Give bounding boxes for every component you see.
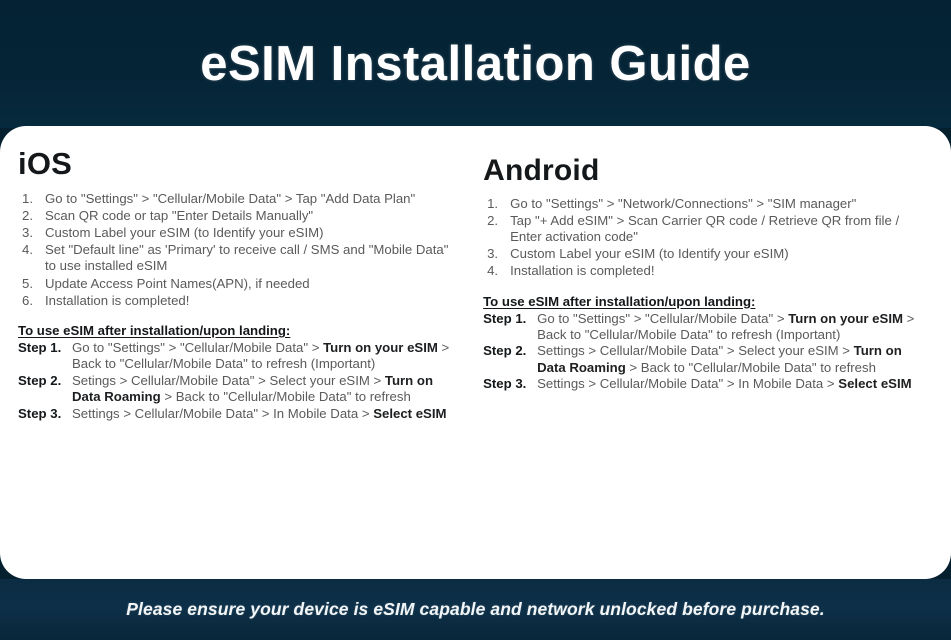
ios-usage-list: Step 1.Go to "Settings" > "Cellular/Mobi…: [18, 340, 453, 422]
list-item: 5.Update Access Point Names(APN), if nee…: [18, 276, 453, 292]
usage-step-text: Setings > Cellular/Mobile Data" > Select…: [72, 373, 433, 404]
list-item-number: 4.: [487, 263, 505, 279]
list-item-number: 1.: [487, 196, 505, 212]
usage-step-text: Settings > Cellular/Mobile Data" > In Mo…: [72, 406, 447, 421]
usage-step: Step 2.Settings > Cellular/Mobile Data" …: [483, 343, 929, 376]
usage-emphasis: Select eSIM: [838, 376, 911, 391]
usage-step-text: Go to "Settings" > "Cellular/Mobile Data…: [537, 311, 914, 342]
usage-text-run: Settings > Cellular/Mobile Data" > In Mo…: [537, 376, 838, 391]
list-item: 4.Installation is completed!: [483, 263, 929, 279]
header-banner: eSIM Installation Guide: [0, 0, 951, 128]
usage-step: Step 3.Settings > Cellular/Mobile Data" …: [483, 376, 929, 392]
list-item-number: 2.: [487, 213, 505, 229]
usage-text-run: > Back to "Cellular/Mobile Data" to refr…: [161, 389, 411, 404]
ios-platform-title: iOS: [18, 148, 453, 181]
usage-emphasis: Select eSIM: [373, 406, 446, 421]
ios-usage-heading: To use eSIM after installation/upon land…: [18, 322, 453, 339]
ios-column: iOS 1.Go to "Settings" > "Cellular/Mobil…: [14, 148, 467, 569]
list-item-text: Go to "Settings" > "Network/Connections"…: [510, 196, 856, 211]
list-item: 3.Custom Label your eSIM (to Identify yo…: [18, 225, 453, 241]
footer-note: Please ensure your device is eSIM capabl…: [126, 599, 824, 620]
list-item-text: Custom Label your eSIM (to Identify your…: [510, 246, 789, 261]
usage-text-run: > Back to "Cellular/Mobile Data" to refr…: [626, 360, 876, 375]
list-item-text: Set "Default line" as 'Primary' to recei…: [45, 242, 448, 273]
list-item-number: 2.: [22, 208, 40, 224]
page-title: eSIM Installation Guide: [200, 36, 751, 92]
android-steps-list: 1.Go to "Settings" > "Network/Connection…: [483, 196, 929, 280]
list-item-text: Go to "Settings" > "Cellular/Mobile Data…: [45, 191, 415, 206]
android-column: Android 1.Go to "Settings" > "Network/Co…: [467, 148, 937, 569]
list-item: 2.Tap "+ Add eSIM" > Scan Carrier QR cod…: [483, 213, 929, 245]
footer-banner: Please ensure your device is eSIM capabl…: [0, 579, 951, 640]
list-item: 1.Go to "Settings" > "Cellular/Mobile Da…: [18, 191, 453, 207]
usage-text-run: Setings > Cellular/Mobile Data" > Select…: [72, 373, 385, 388]
list-item: 3.Custom Label your eSIM (to Identify yo…: [483, 246, 929, 262]
list-item-text: Custom Label your eSIM (to Identify your…: [45, 225, 324, 240]
usage-text-run: Settings > Cellular/Mobile Data" > In Mo…: [72, 406, 373, 421]
usage-text-run: Go to "Settings" > "Cellular/Mobile Data…: [537, 311, 788, 326]
list-item-number: 3.: [22, 225, 40, 241]
guide-card: iOS 1.Go to "Settings" > "Cellular/Mobil…: [0, 126, 951, 579]
usage-step-label: Step 3.: [483, 376, 526, 392]
ios-steps-list: 1.Go to "Settings" > "Cellular/Mobile Da…: [18, 191, 453, 309]
list-item-number: 1.: [22, 191, 40, 207]
usage-step-text: Settings > Cellular/Mobile Data" > In Mo…: [537, 376, 912, 391]
android-usage-block: To use eSIM after installation/upon land…: [483, 293, 929, 393]
usage-step: Step 1.Go to "Settings" > "Cellular/Mobi…: [18, 340, 453, 373]
usage-step-label: Step 2.: [483, 343, 526, 359]
usage-step: Step 2.Setings > Cellular/Mobile Data" >…: [18, 373, 453, 406]
usage-emphasis: Turn on your eSIM: [323, 340, 438, 355]
list-item-number: 5.: [22, 276, 40, 292]
android-platform-title: Android: [483, 155, 929, 187]
usage-step-label: Step 1.: [18, 340, 61, 356]
ios-usage-block: To use eSIM after installation/upon land…: [18, 322, 453, 422]
list-item-number: 3.: [487, 246, 505, 262]
list-item-text: Update Access Point Names(APN), if neede…: [45, 276, 310, 291]
list-item-text: Installation is completed!: [510, 263, 654, 278]
list-item-number: 4.: [22, 242, 40, 258]
list-item-text: Tap "+ Add eSIM" > Scan Carrier QR code …: [510, 213, 899, 244]
usage-text-run: Settings > Cellular/Mobile Data" > Selec…: [537, 343, 854, 358]
usage-step-text: Go to "Settings" > "Cellular/Mobile Data…: [72, 340, 449, 371]
android-usage-list: Step 1.Go to "Settings" > "Cellular/Mobi…: [483, 311, 929, 393]
list-item-text: Installation is completed!: [45, 293, 189, 308]
list-item: 6.Installation is completed!: [18, 293, 453, 309]
list-item-text: Scan QR code or tap "Enter Details Manua…: [45, 208, 313, 223]
usage-step-label: Step 1.: [483, 311, 526, 327]
usage-step-label: Step 3.: [18, 406, 61, 422]
usage-step: Step 3.Settings > Cellular/Mobile Data" …: [18, 406, 453, 422]
usage-emphasis: Turn on your eSIM: [788, 311, 903, 326]
list-item: 1.Go to "Settings" > "Network/Connection…: [483, 196, 929, 212]
usage-text-run: Go to "Settings" > "Cellular/Mobile Data…: [72, 340, 323, 355]
android-usage-heading: To use eSIM after installation/upon land…: [483, 293, 929, 310]
list-item-number: 6.: [22, 293, 40, 309]
usage-step: Step 1.Go to "Settings" > "Cellular/Mobi…: [483, 311, 929, 344]
usage-step-text: Settings > Cellular/Mobile Data" > Selec…: [537, 343, 902, 374]
usage-step-label: Step 2.: [18, 373, 61, 389]
list-item: 4.Set "Default line" as 'Primary' to rec…: [18, 242, 453, 274]
list-item: 2.Scan QR code or tap "Enter Details Man…: [18, 208, 453, 224]
